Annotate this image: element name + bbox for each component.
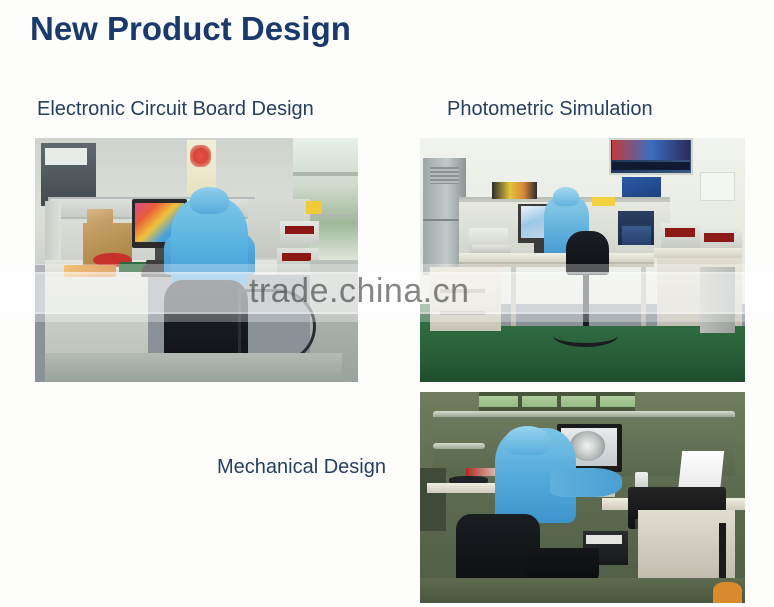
desk-leg [511,267,516,326]
yellow-label [306,201,322,213]
instrument-rack-lower [622,226,651,246]
poster-image [612,140,690,160]
drawer-unit [430,267,502,330]
partition-rail [433,443,485,449]
shadowed-wall [420,468,446,531]
page-title: New Product Design [30,10,351,48]
chair-post [583,272,590,326]
photo-mechanical-design [420,392,745,603]
product-design-banner: New Product Design Electronic Circuit Bo… [0,0,774,607]
power-supply-display [665,228,694,237]
yellow-tape-rolls [592,197,615,207]
section-title-electronic-circuit-board-design: Electronic Circuit Board Design [37,98,314,121]
photo-scene [35,138,358,382]
cable-duct [700,267,736,333]
cabinet-vent [430,167,459,184]
window-blind-bar [293,172,358,176]
photo-electronic-circuit-board-design [35,138,358,382]
drawer-handle [440,311,486,315]
monitor-stand [534,243,544,253]
drawer-handle [440,289,486,293]
worker-cleanroom-cap [553,187,579,207]
photo-scene [420,392,745,603]
worker-cleanroom-cap [505,426,551,456]
orange-object [713,582,742,603]
photo-scene [420,138,745,382]
instrument-display [282,253,311,262]
desk-leg [641,267,646,326]
instrument-display [285,226,314,235]
partition-top-rail [433,411,735,417]
photo-photometric-simulation [420,138,745,382]
hand-tools [64,265,116,277]
ceiling-light [45,148,87,165]
stacked-boxes [492,182,538,199]
floor [420,578,745,603]
worker-arm [550,468,622,498]
desk-front-panel [45,275,148,358]
box-label [586,535,622,543]
worker-cleanroom-cap [190,187,229,214]
section-title-photometric-simulation: Photometric Simulation [447,98,653,121]
chair-base [553,323,618,347]
power-supply-display [704,233,733,242]
desk-surface [459,253,654,263]
section-title-mechanical-design: Mechanical Design [217,456,386,479]
floor [45,353,342,382]
monitor-stand [155,248,165,260]
poster-caption-strip [612,162,690,169]
power-cord [719,523,726,578]
instrument-bench [654,248,742,258]
white-wall-notice [700,172,736,201]
office-chair [566,231,608,275]
poster-artwork [190,145,211,167]
